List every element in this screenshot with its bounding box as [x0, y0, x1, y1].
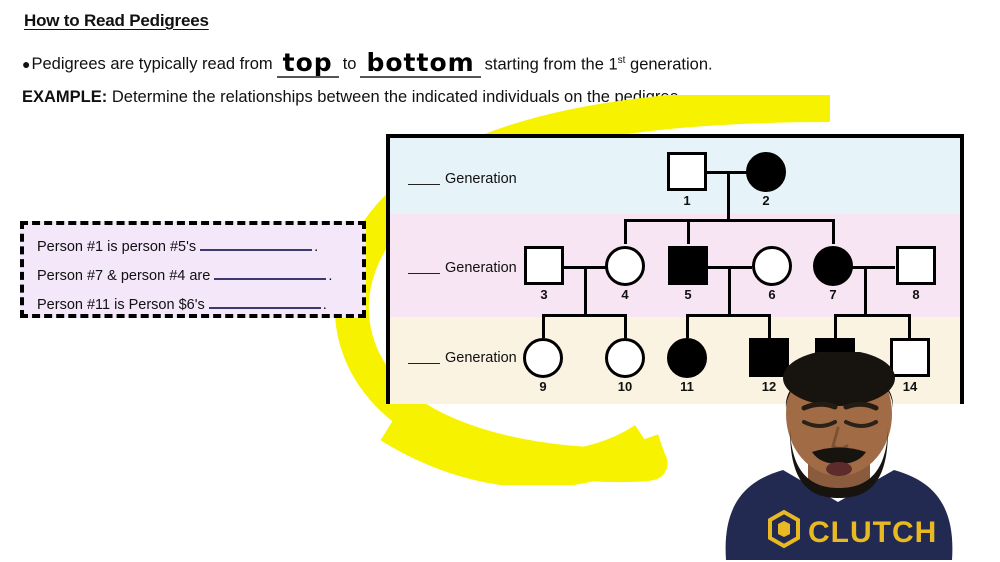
bullet-marker-icon: ●	[22, 57, 30, 71]
individual-8-symbol[interactable]	[896, 246, 936, 285]
individual-5-number: 5	[673, 287, 703, 302]
bullet-middle-text: to	[343, 55, 357, 74]
example-label: EXAMPLE:	[22, 88, 107, 106]
page-title: How to Read Pedigrees	[24, 11, 209, 31]
question-period: .	[323, 297, 327, 313]
question-text: Person #1 is person #5's	[37, 239, 196, 255]
question-text: Person #7 & person #4 are	[37, 268, 210, 284]
question-text: Person #11 is Person $6's	[37, 297, 205, 313]
individual-3-number: 3	[529, 287, 559, 302]
question-period: .	[314, 239, 318, 255]
individual-9-symbol[interactable]	[523, 338, 563, 378]
question-period: .	[328, 268, 332, 284]
individual-6-number: 6	[757, 287, 787, 302]
individual-9-number: 9	[528, 379, 558, 394]
bullet-line: ● Pedigrees are typically read from top …	[22, 48, 713, 76]
bullet-suffix-text: starting from the 1st generation.	[485, 55, 713, 75]
individual-7-number: 7	[818, 287, 848, 302]
example-line: EXAMPLE: Determine the relationships bet…	[22, 88, 683, 107]
bullet-prefix-text: Pedigrees are typically read from	[31, 55, 272, 74]
handwritten-answer-top: top	[277, 50, 339, 78]
answer-blank[interactable]	[214, 265, 326, 280]
individual-1-number: 1	[672, 193, 702, 208]
presenter-video: CLUTCH	[678, 352, 1000, 562]
individual-4-number: 4	[610, 287, 640, 302]
individual-10-symbol[interactable]	[605, 338, 645, 378]
slide-canvas: How to Read Pedigrees ● Pedigrees are ty…	[0, 0, 1000, 562]
individual-6-symbol[interactable]	[752, 246, 792, 286]
individual-8-number: 8	[901, 287, 931, 302]
answer-blank[interactable]	[200, 236, 312, 251]
question-box: Person #1 is person #5's . Person #7 & p…	[20, 221, 366, 318]
individual-1-symbol[interactable]	[667, 152, 707, 191]
example-text: Determine the relationships between the …	[112, 88, 683, 106]
shirt-wordmark: CLUTCH	[808, 516, 937, 549]
individual-10-number: 10	[610, 379, 640, 394]
individual-4-symbol[interactable]	[605, 246, 645, 286]
answer-blank[interactable]	[209, 294, 321, 309]
individual-5-symbol[interactable]	[668, 246, 708, 285]
question-row: Person #11 is Person $6's .	[37, 294, 327, 313]
handwritten-answer-bottom: bottom	[360, 50, 480, 78]
question-row: Person #7 & person #4 are .	[37, 265, 332, 284]
individual-2-number: 2	[751, 193, 781, 208]
individual-2-symbol[interactable]	[746, 152, 786, 192]
question-row: Person #1 is person #5's .	[37, 236, 318, 255]
individual-7-symbol[interactable]	[813, 246, 853, 286]
individual-3-symbol[interactable]	[524, 246, 564, 285]
